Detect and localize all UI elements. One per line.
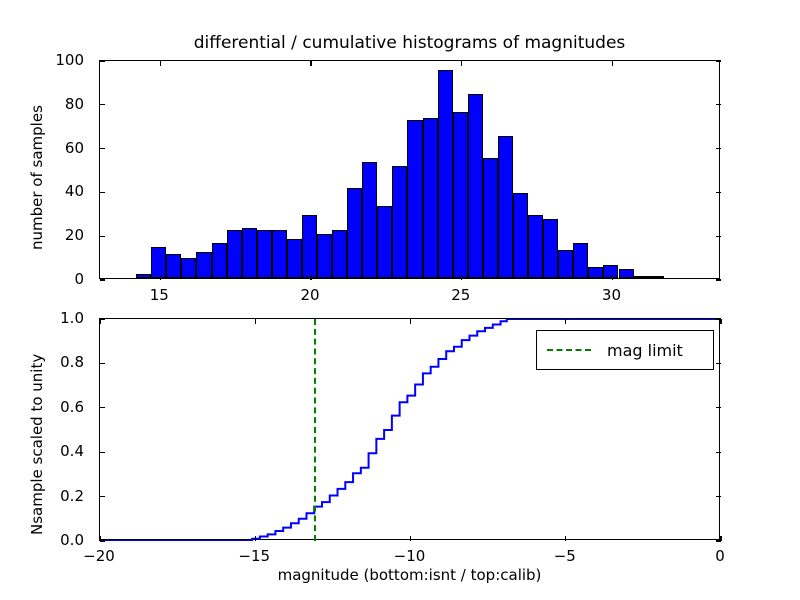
histogram-bar [272,230,287,278]
y-tick-label: 0.2 [0,487,90,505]
y-axis-tick [100,318,105,319]
mag-limit-legend-swatch [547,349,591,351]
y-axis-tick [100,363,105,364]
y-axis-tick [100,279,105,280]
histogram-bar [136,274,151,278]
histogram-bar [181,258,196,278]
x-axis-tick [160,275,161,280]
y-axis-tick [716,279,721,280]
histogram-bar [483,158,498,278]
y-axis-tick [716,496,721,497]
y-tick-label: 0 [0,270,90,288]
y-axis-tick [716,236,721,237]
histogram-bar [392,166,407,278]
y-tick-label: 0.4 [0,442,90,460]
y-axis-tick [716,148,721,149]
y-axis-tick [100,60,105,61]
histogram-bar [362,162,377,278]
histogram-bar [227,230,242,278]
x-tick-label: 20 [300,286,319,304]
histogram-bar [196,252,211,278]
x-axis-tick [255,319,256,324]
histogram-bar [317,234,332,278]
histogram-bar [407,120,422,278]
histogram-bar [468,94,483,278]
x-axis-tick [99,536,100,541]
histogram-bar [332,230,347,278]
histogram-bar [347,188,362,278]
x-tick-label: −5 [554,547,576,565]
x-tick-label: −10 [394,547,426,565]
histogram-bar [302,215,317,279]
y-axis-tick [100,192,105,193]
x-tick-label: −15 [238,547,270,565]
y-tick-label: 0.8 [0,353,90,371]
y-tick-label: 40 [0,182,90,200]
histogram-bar [212,243,227,278]
x-axis-tick [461,61,462,66]
x-axis-tick [410,536,411,541]
histogram-bar [377,206,392,278]
differential-histogram-plot [99,60,720,279]
legend[interactable]: mag limit [536,330,714,370]
x-axis-tick [612,61,613,66]
x-tick-label: 0 [715,547,725,565]
y-axis-tick [100,540,105,541]
y-tick-label: 1.0 [0,309,90,327]
y-tick-label: 80 [0,95,90,113]
histogram-bar [166,254,181,278]
histogram-bar [438,70,453,278]
histogram-bar [257,230,272,278]
y-tick-label: 60 [0,139,90,157]
page-title: differential / cumulative histograms of … [99,33,720,53]
y-axis-tick [100,407,105,408]
y-axis-tick [716,407,721,408]
y-axis-tick [100,452,105,453]
x-axis-tick [612,275,613,280]
y-axis-tick [100,236,105,237]
x-axis-tick [565,536,566,541]
histogram-bar [528,215,543,279]
figure-canvas: differential / cumulative histograms of … [0,0,800,600]
histogram-bar [619,269,634,278]
x-tick-label: 30 [602,286,621,304]
histogram-bar [573,243,588,278]
y-tick-label: 20 [0,226,90,244]
x-axis-tick [720,319,721,324]
y-tick-label: 0.0 [0,531,90,549]
x-axis-tick [410,319,411,324]
y-tick-label: 100 [0,51,90,69]
histogram-bar [558,250,573,278]
y-axis-tick [100,148,105,149]
x-axis-tick [461,275,462,280]
histogram-bar [513,193,528,278]
histogram-bar [423,118,438,278]
x-tick-label: 25 [451,286,470,304]
x-axis-tick [310,61,311,66]
y-axis-tick [716,104,721,105]
y-tick-label: 0.6 [0,398,90,416]
histogram-bar [151,247,166,278]
y-axis-tick [716,452,721,453]
y-axis-tick [100,496,105,497]
x-axis-tick [310,275,311,280]
histogram-bar [634,276,649,278]
x-axis-tick [565,319,566,324]
y-axis-tick [716,363,721,364]
y-axis-tick [716,192,721,193]
legend-item-label: mag limit [607,341,683,360]
x-axis-tick [99,319,100,324]
histogram-bar [453,112,468,278]
histogram-bar [242,228,257,278]
histogram-bar [287,239,302,278]
mag-limit-line [314,319,316,541]
histogram-bar [543,219,558,278]
histogram-bar [588,267,603,278]
x-tick-label: 15 [150,286,169,304]
x-axis-tick [720,536,721,541]
y-axis-tick [716,60,721,61]
histogram-bar [498,136,513,278]
x-axis-label: magnitude (bottom:isnt / top:calib) [99,566,720,584]
x-axis-tick [160,61,161,66]
x-tick-label: −20 [83,547,115,565]
histogram-bar [649,276,664,278]
y-axis-tick [100,104,105,105]
x-axis-tick [255,536,256,541]
